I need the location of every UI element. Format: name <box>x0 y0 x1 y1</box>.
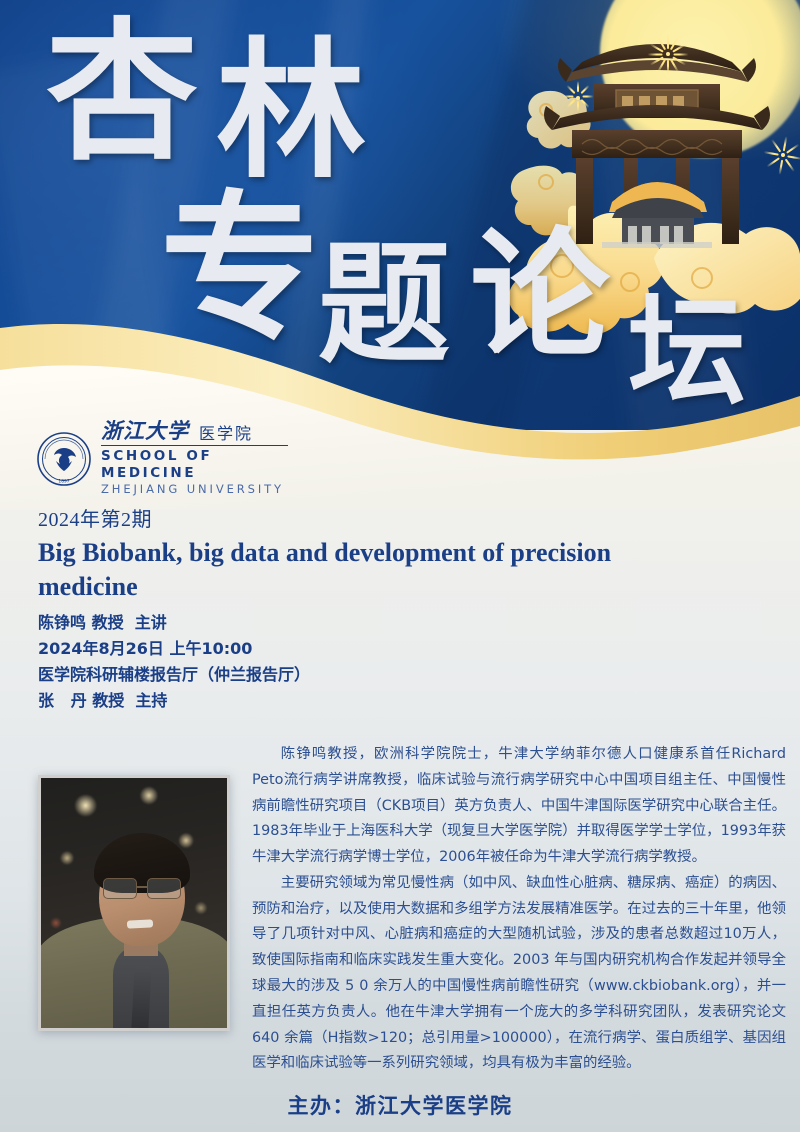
logo-text-block: 浙江大学 医学院 SCHOOL OF MEDICINE ZHEJIANG UNI… <box>101 421 288 497</box>
photo-glasses <box>101 878 183 898</box>
organizer-line: 主办：浙江大学医学院 <box>0 1090 800 1120</box>
zhejiang-university-logo: 1897 浙江大学 医学院 SCHOOL OF MEDICINE ZHEJIAN… <box>36 428 288 490</box>
banner-title-char: 杏 <box>46 18 198 170</box>
bio-paragraph-2: 主要研究领域为常见慢性病（如中风、缺血性心脏病、糖尿病、癌症）的病因、预防和治疗… <box>252 871 786 1077</box>
firework-icon <box>640 26 696 82</box>
poster-root: 杏 林 专 题 论 坛 <box>0 0 800 1132</box>
svg-text:1897: 1897 <box>58 479 69 485</box>
speaker-biography: 陈铮鸣教授，欧洲科学院院士，牛津大学纳菲尔德人口健康系首任Richard Pet… <box>252 742 786 1077</box>
issue-label: 2024年第2期 <box>38 503 152 532</box>
speaker-line: 陈铮鸣 教授 主讲 <box>38 610 468 636</box>
speaker-photo <box>38 775 230 1031</box>
photo-tie <box>131 966 151 1029</box>
host-line: 张 丹 教授 主持 <box>38 688 468 714</box>
talk-title: Big Biobank, big data and development of… <box>38 536 638 605</box>
banner-title-char: 林 <box>216 38 366 188</box>
firework-icon <box>558 78 598 118</box>
university-seal-icon: 1897 <box>36 431 92 487</box>
photo-mouth <box>127 919 153 928</box>
bio-paragraph-1: 陈铮鸣教授，欧洲科学院院士，牛津大学纳菲尔德人口健康系首任Richard Pet… <box>252 742 786 871</box>
logo-english-university: ZHEJIANG UNIVERSITY <box>101 483 288 497</box>
firework-icon <box>760 132 800 178</box>
logo-university-name: 浙江大学 <box>101 421 189 442</box>
venue-line: 医学院科研辅楼报告厅（仲兰报告厅） <box>38 662 468 688</box>
datetime-line: 2024年8月26日 上午10:00 <box>38 636 468 662</box>
logo-english-school: SCHOOL OF MEDICINE <box>101 445 288 482</box>
event-details: 陈铮鸣 教授 主讲 2024年8月26日 上午10:00 医学院科研辅楼报告厅（… <box>38 610 468 714</box>
logo-school-name: 医学院 <box>199 426 253 442</box>
